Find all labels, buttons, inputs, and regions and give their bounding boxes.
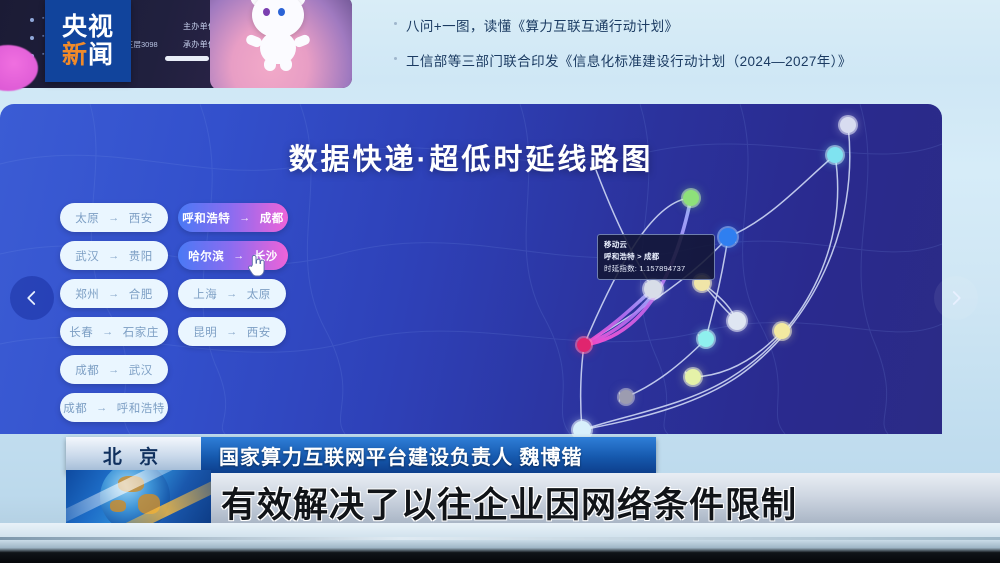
arrow-right-icon: → xyxy=(239,212,251,224)
route-chip-上海-太原[interactable]: 上海→太原 xyxy=(178,279,286,308)
monitor-bezel xyxy=(0,523,1000,563)
route-origin: 上海 xyxy=(193,286,217,302)
headline-bullet-icon xyxy=(394,22,397,25)
route-destination: 西安 xyxy=(129,210,153,226)
route-origin: 昆明 xyxy=(193,324,217,340)
arrow-right-icon: → xyxy=(226,288,238,300)
arrow-right-icon: → xyxy=(108,364,120,376)
chevron-right-icon xyxy=(947,289,965,307)
node-yellow-2[interactable] xyxy=(774,323,790,339)
route-destination: 合肥 xyxy=(129,286,153,302)
arrow-right-icon: → xyxy=(102,326,114,338)
graph-tooltip: 移动云 呼和浩特 > 成都 时延指数: 1.157894737 xyxy=(597,234,715,280)
logo-line-two: 新闻 xyxy=(62,42,114,68)
speaker-label: 国家算力互联网平台建设负责人 魏博锴 xyxy=(201,437,656,473)
tooltip-metric-label: 时延指数: xyxy=(604,264,637,273)
mascot-eye-right xyxy=(278,8,285,16)
cctv-news-logo: 央视 新闻 xyxy=(45,0,131,82)
route-chip-呼和浩特-成都[interactable]: 呼和浩特→成都 xyxy=(178,203,288,232)
mouse-pointer-hand-icon xyxy=(245,252,267,278)
headline-item-1: 八问+一图，读懂《算力互联互通行动计划》 xyxy=(406,15,678,35)
route-chip-武汉-贵阳[interactable]: 武汉→贵阳 xyxy=(60,241,168,270)
node-white-mid[interactable] xyxy=(728,312,746,330)
mascot-figure xyxy=(246,0,310,70)
news-globe-graphic xyxy=(66,470,211,524)
arrow-right-icon: → xyxy=(233,250,245,262)
route-chip-成都-武汉[interactable]: 成都→武汉 xyxy=(60,355,168,384)
location-label: 北 京 xyxy=(66,437,201,473)
tooltip-provider: 移动云 xyxy=(604,239,708,251)
mascot-leg-right xyxy=(280,58,292,71)
pagination-dot-active[interactable] xyxy=(165,56,209,61)
node-cyan-hi[interactable] xyxy=(827,147,843,163)
tooltip-route: 呼和浩特 > 成都 xyxy=(604,251,708,263)
chengdu-source[interactable] xyxy=(577,338,591,352)
route-destination: 石家庄 xyxy=(123,324,159,340)
bullet-dot xyxy=(30,18,34,22)
arrow-right-icon: → xyxy=(108,212,120,224)
mascot-leg-left xyxy=(264,58,276,71)
route-chip-成都-呼和浩特[interactable]: 成都→呼和浩特 xyxy=(60,393,168,422)
lower-third-bar: 北 京 国家算力互联网平台建设负责人 魏博锴 xyxy=(66,437,656,473)
headline-bullet-icon xyxy=(394,57,397,60)
route-origin: 太原 xyxy=(75,210,99,226)
node-grey-low[interactable] xyxy=(619,390,633,404)
mascot-eye-left xyxy=(263,8,270,16)
route-destination: 武汉 xyxy=(129,362,153,378)
arrow-right-icon: → xyxy=(226,326,238,338)
node-grey-mid[interactable] xyxy=(644,280,662,298)
route-origin: 哈尔滨 xyxy=(188,248,224,264)
route-destination: 成都 xyxy=(260,210,284,226)
screenshot-root: ▪▪▪▪▪▪▪▪▪▪▪▪ 三层3098 主办单位: 中国信息通信研究院 承办单位… xyxy=(0,0,1000,563)
route-destination: 贵阳 xyxy=(129,248,153,264)
mascot-arm-right xyxy=(293,33,312,48)
route-origin: 长春 xyxy=(69,324,93,340)
route-origin: 呼和浩特 xyxy=(182,210,230,226)
headline-item-2: 工信部等三部门联合印发《信息化标准建设行动计划（2024—2027年）》 xyxy=(406,50,852,70)
route-chip-太原-西安[interactable]: 太原→西安 xyxy=(60,203,168,232)
arrow-right-icon: → xyxy=(108,288,120,300)
route-chip-昆明-西安[interactable]: 昆明→西安 xyxy=(178,317,286,346)
node-white-top[interactable] xyxy=(840,117,856,133)
globe-landmass xyxy=(110,500,126,512)
node-lime-low[interactable] xyxy=(685,369,701,385)
arrow-right-icon: → xyxy=(96,402,108,414)
route-chip-哈尔滨-长沙[interactable]: 哈尔滨→长沙 xyxy=(178,241,288,270)
route-origin: 成都 xyxy=(75,362,99,378)
route-destination: 呼和浩特 xyxy=(117,400,165,416)
arrow-right-icon: → xyxy=(108,250,120,262)
route-destination: 西安 xyxy=(247,324,271,340)
route-chip-郑州-合肥[interactable]: 郑州→合肥 xyxy=(60,279,168,308)
node-blue-sel[interactable] xyxy=(719,228,737,246)
node-green[interactable] xyxy=(683,190,699,206)
headline-text: 八问+一图，读懂《算力互联互通行动计划》 xyxy=(406,19,678,34)
route-origin: 成都 xyxy=(63,400,87,416)
bezel-highlight xyxy=(0,537,1000,540)
logo-line-one: 央视 xyxy=(62,14,114,40)
chevron-left-icon xyxy=(23,289,41,307)
route-destination: 太原 xyxy=(247,286,271,302)
tooltip-metric-value: 1.157894737 xyxy=(639,264,685,273)
logo-char-wen: 闻 xyxy=(88,41,114,69)
carousel-prev-button[interactable] xyxy=(10,276,54,320)
route-origin: 郑州 xyxy=(75,286,99,302)
bullet-dot xyxy=(30,36,34,40)
subtitle-text: 有效解决了以往企业因网络条件限制 xyxy=(221,477,797,528)
node-cyan-low[interactable] xyxy=(698,331,714,347)
logo-char-xin: 新 xyxy=(62,41,88,69)
banner-mascot-image xyxy=(210,0,352,88)
tooltip-metric: 时延指数: 1.157894737 xyxy=(604,263,708,275)
headline-text: 工信部等三部门联合印发《信息化标准建设行动计划（2024—2027年）》 xyxy=(406,54,852,69)
route-chip-长春-石家庄[interactable]: 长春→石家庄 xyxy=(60,317,168,346)
route-origin: 武汉 xyxy=(75,248,99,264)
